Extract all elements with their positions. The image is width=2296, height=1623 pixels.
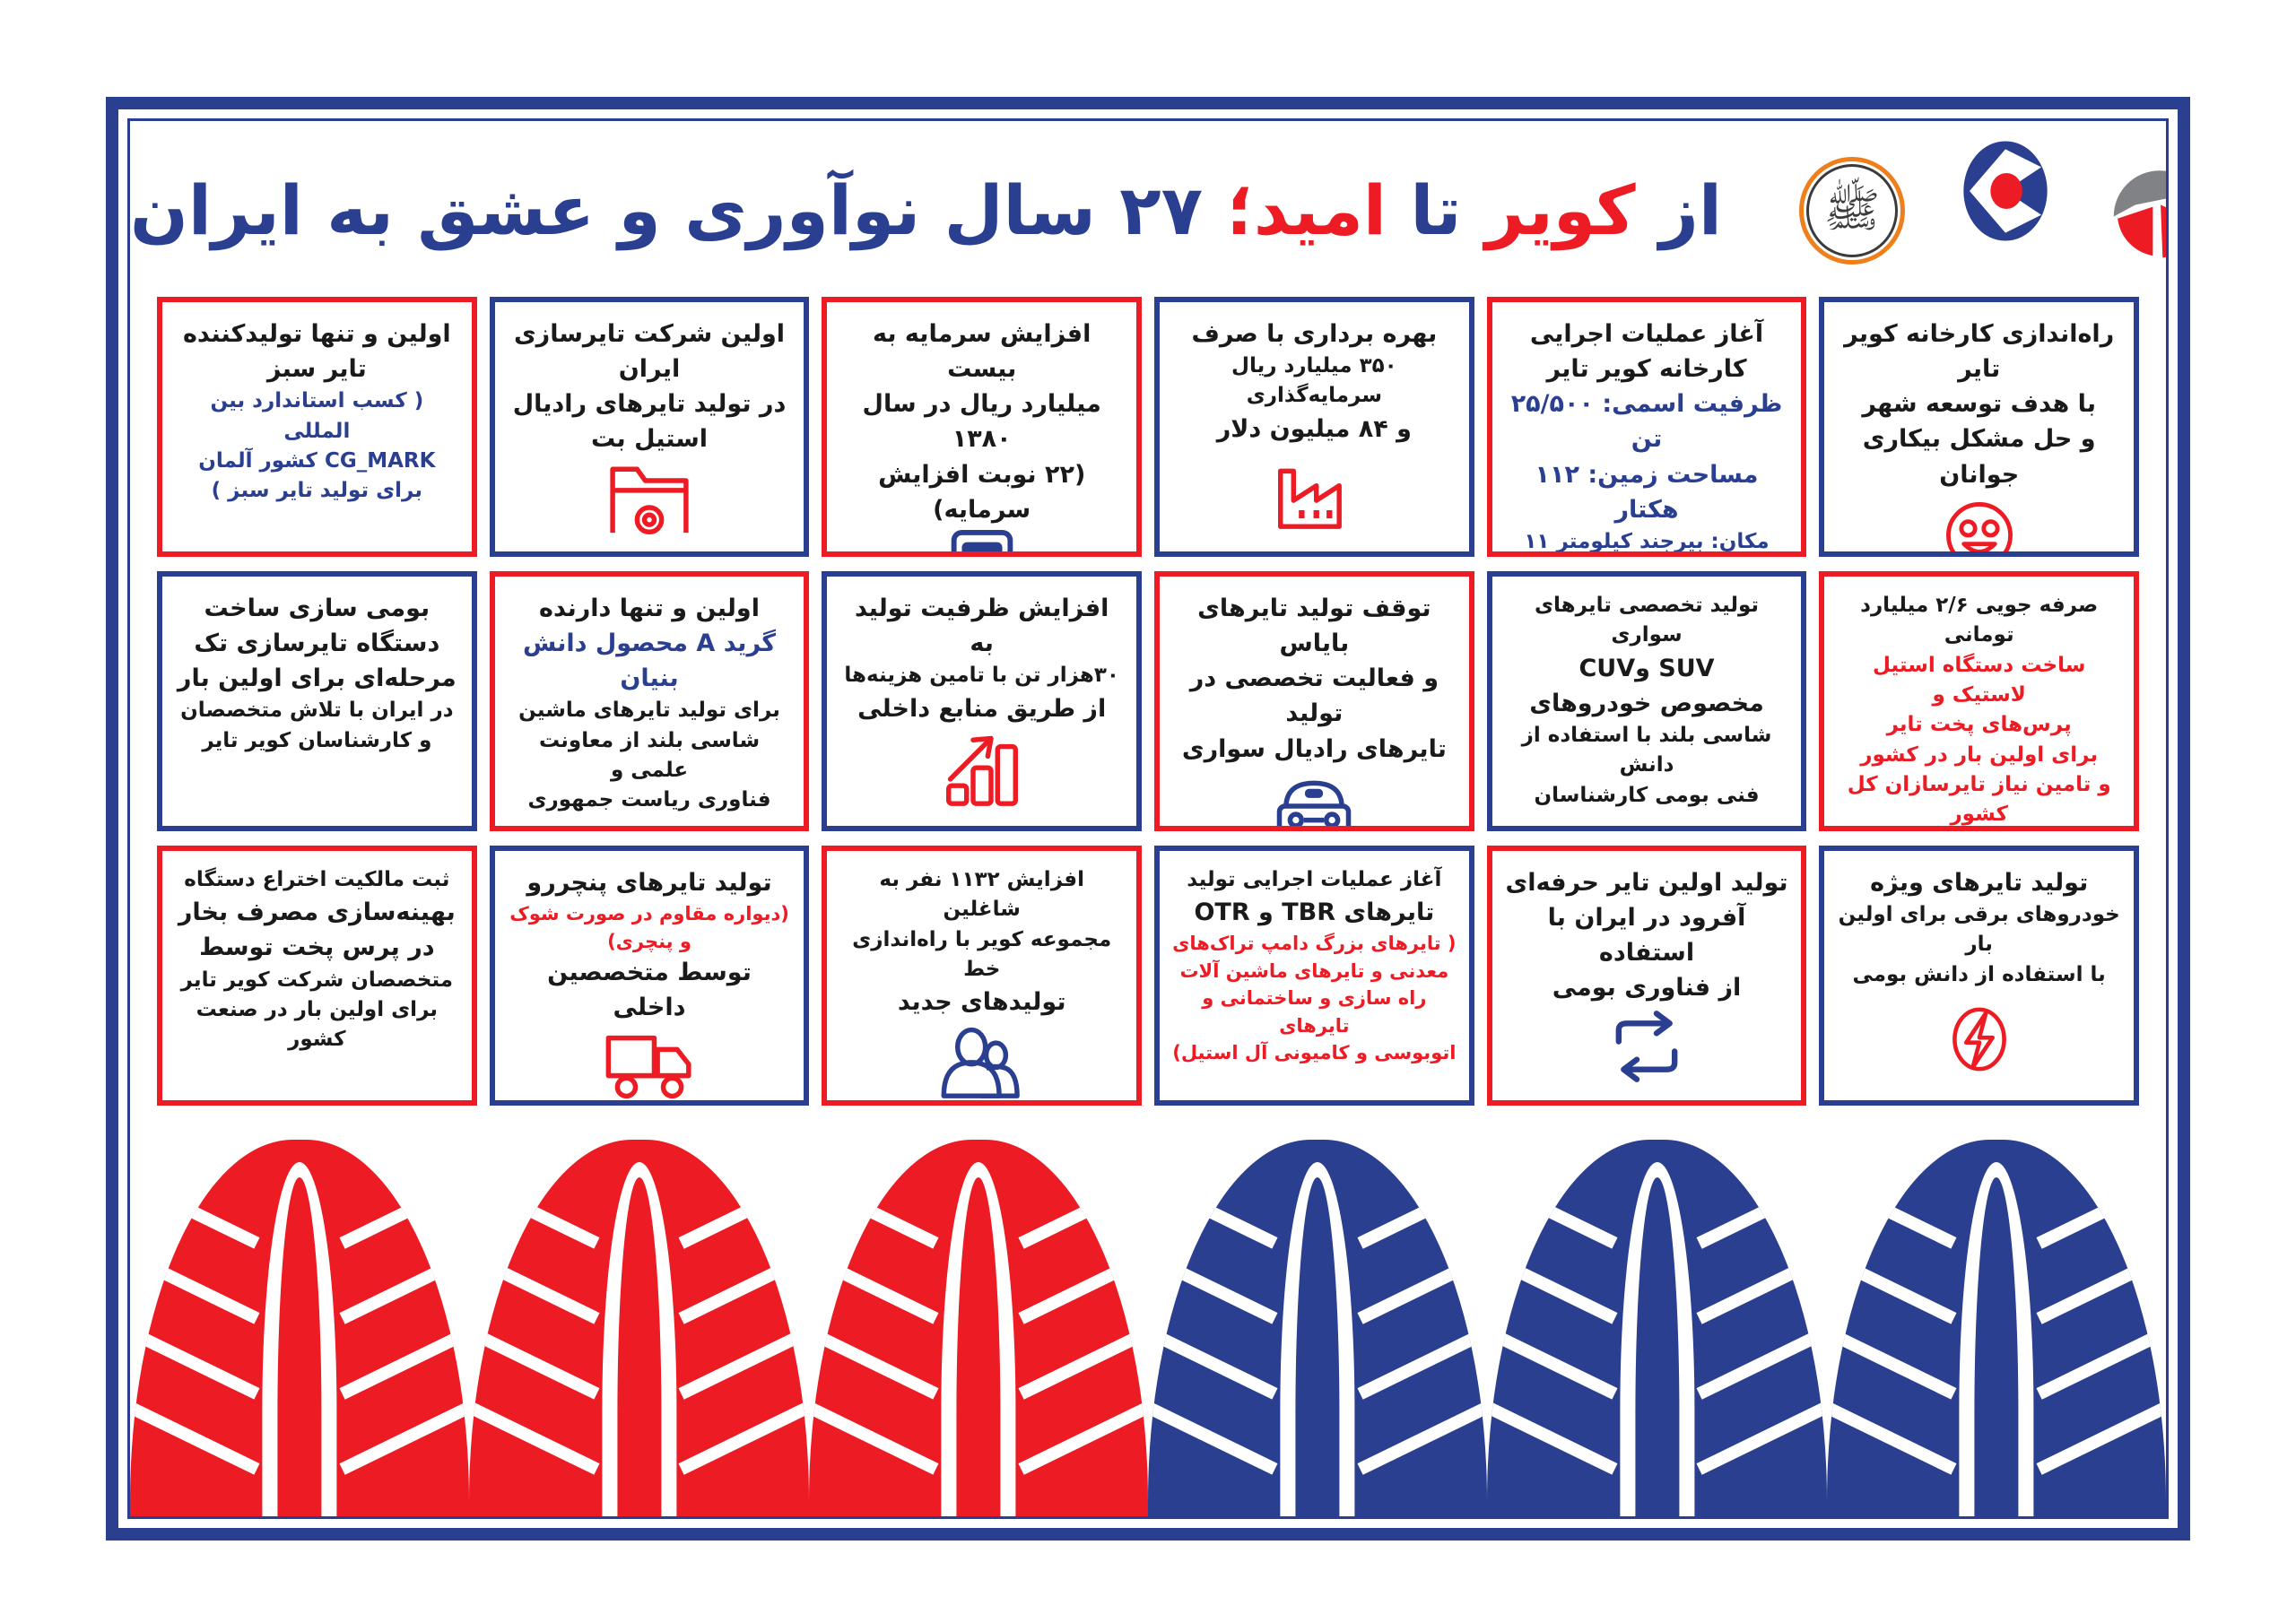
card-line: مخصوص خودروهای <box>1505 686 1789 721</box>
omid-logo-wordmark <box>1999 248 2011 284</box>
card-line-standard: ( کسب استاندارد بین المللی <box>175 386 459 447</box>
card-line-grade-a: گرید A محصول دانش بنیان <box>508 626 792 696</box>
card-factory-launch[interactable]: راه‌اندازی کارخانه کویر تایر با هدف توسع… <box>1819 297 2139 557</box>
folder-gear-icon <box>604 457 694 540</box>
card-line: شاسی بلند با استفاده از دانش <box>1505 721 1789 781</box>
card-line: فناوری ریاست جمهوری <box>508 785 792 815</box>
card-line: راه‌اندازی کارخانه کویر تایر <box>1837 317 2121 386</box>
two-people-icon <box>937 1020 1027 1103</box>
card-line: از فناوری بومی <box>1505 970 1789 1005</box>
card-bias-tire-production-stop[interactable]: توقف تولید تایرهای بایاس و فعالیت تخصصی … <box>1154 571 1474 831</box>
card-line: تولید تایرهای پنچررو <box>508 865 792 900</box>
card-line: معدنی و تایرهای ماشین آلات <box>1172 958 1457 985</box>
card-capacity-increase-30k-tons[interactable]: افزایش ظرفیت تولید به ۳۰هزار تن با تامین… <box>822 571 1142 831</box>
title-segment-3: ۲۷ سال نوآوری و عشق به ایران <box>130 170 1227 250</box>
tire-tread-blue-1 <box>1827 1140 2166 1516</box>
card-line: افزایش سرمایه به بیست <box>839 317 1124 386</box>
card-first-professional-offroad-tire[interactable]: تولید اولین تایر حرفه‌ای آفرود در ایران … <box>1487 846 1807 1106</box>
card-line: آغاز عملیات اجرایی <box>1505 317 1789 352</box>
card-line: (۲۲ نوبت افزایش سرمایه) <box>839 457 1124 527</box>
card-localization-single-stage-machine[interactable]: بومی سازی ساخت دستگاه تایرسازی تک مرحله‌… <box>157 571 477 831</box>
lightning-bolt-icon <box>1938 991 2021 1088</box>
card-line: تایرهای رادیال سواری <box>1172 732 1457 767</box>
tire-tread-red-3 <box>130 1140 469 1516</box>
card-line: توسط متخصصین داخلی <box>508 955 792 1025</box>
title-highlight-omid: امید؛ <box>1227 170 1387 250</box>
card-line: دستگاه تایرسازی تک <box>175 626 459 661</box>
tire-tread-blue-2 <box>1487 1140 1826 1516</box>
growth-bar-chart-icon <box>937 726 1027 813</box>
logo-strip: ﷺ <box>1754 137 2169 284</box>
page-title: از کویر تا امید؛ ۲۷ سال نوآوری و عشق به … <box>130 173 1754 248</box>
card-line: متخصصان شرکت کویر تایر <box>175 966 459 995</box>
card-investment-exploitation[interactable]: بهره برداری با صرف ۳۵۰ میلیارد ریال سرما… <box>1154 297 1474 557</box>
smiley-face-icon <box>1936 492 2022 557</box>
truck-icon <box>601 1025 698 1100</box>
card-line: مجموعه کویر با راه‌اندازی خط <box>839 925 1124 985</box>
card-suv-cuv-specialized-production[interactable]: تولید تخصصی تایرهای سواری SUV وCUV مخصوص… <box>1487 571 1807 831</box>
card-line-runflat-note: (دیواره مقاوم در صورت شوک و پنچری) <box>508 900 792 955</box>
card-line: مرحله‌ای برای اولین بار <box>175 661 459 696</box>
card-line: تایر سبز <box>175 352 459 386</box>
omid-investment-group-logo-icon <box>1955 137 2056 245</box>
card-line: تولیدهای جدید <box>839 985 1124 1020</box>
card-line: و تامین نیاز تایرسازان کل کشور <box>1837 770 2121 830</box>
card-line-purpose: برای تولید تایر سبز ) <box>175 476 459 506</box>
car-front-icon <box>1267 767 1361 831</box>
card-line: اولین و تنها تولیدکننده <box>175 317 459 352</box>
card-first-radial-steel-belt[interactable]: اولین شرکت تایرسازی ایران در تولید تایره… <box>490 297 810 557</box>
kavir-tire-logo-icon <box>2106 158 2169 264</box>
title-highlight-kavir: کویر <box>1485 170 1636 250</box>
card-employment-increase-1132[interactable]: افزایش ۱۱۳۲ نفر به شاغلین مجموعه کویر با… <box>822 846 1142 1106</box>
card-line: اتوبوسی و کامیونی آل استیل) <box>1172 1039 1457 1066</box>
card-line-land-area: مساحت زمین: ۱۱۲ هکتار <box>1505 457 1789 527</box>
card-line: اولین و تنها دارنده <box>508 591 792 626</box>
card-executive-operations-start[interactable]: آغاز عملیات اجرایی کارخانه کویر تایر ظرف… <box>1487 297 1807 557</box>
logo-omid-investment <box>1955 137 2056 284</box>
card-line: افزایش ظرفیت تولید به <box>839 591 1124 661</box>
card-line: آفرود در ایران با استفاده <box>1505 900 1789 970</box>
card-line: اولین شرکت تایرسازی ایران <box>508 317 792 386</box>
card-line: در ایران با تلاش متخصصان <box>175 696 459 725</box>
bank-melli-iran-logo-icon: ﷺ <box>1799 157 1905 265</box>
card-line: تولید تایرهای ویژه <box>1837 865 2121 900</box>
card-line: بومی سازی ساخت <box>175 591 459 626</box>
card-grade-a-knowledge-based[interactable]: اولین و تنها دارنده گرید A محصول دانش بن… <box>490 571 810 831</box>
card-line: ساخت دستگاه استیل لاستیک و <box>1837 651 2121 711</box>
card-line: تولید اولین تایر حرفه‌ای <box>1505 865 1789 900</box>
card-line: خودروهای برقی برای اولین بار <box>1837 900 2121 960</box>
card-line: توقف تولید تایرهای بایاس <box>1172 591 1457 661</box>
tire-tread-red-1 <box>809 1140 1148 1516</box>
card-line: ( تایرهای بزرگ دامپ تراک‌های <box>1172 930 1457 957</box>
calculator-icon: + − × ÷ <box>946 527 1018 557</box>
card-line: برای اولین بار در کشور <box>1837 741 2121 770</box>
card-line: با هدف توسعه شهر <box>1837 386 2121 421</box>
card-line: کارخانه کویر تایر <box>1505 352 1789 386</box>
card-line: پرس‌های پخت تایر <box>1837 710 2121 740</box>
poster-frame: از کویر تا امید؛ ۲۷ سال نوآوری و عشق به … <box>106 97 2190 1541</box>
card-line: ۳۰هزار تن با تامین هزینه‌ها <box>839 661 1124 690</box>
tire-tread-red-2 <box>469 1140 808 1516</box>
card-line: برای اولین بار در صنعت کشور <box>175 995 459 1055</box>
card-line: ثبت مالکیت اختراع دستگاه <box>175 865 459 895</box>
card-line: بهینه‌سازی مصرف بخار <box>175 895 459 930</box>
card-special-ev-tires[interactable]: تولید تایرهای ویژه خودروهای برقی برای او… <box>1819 846 2139 1106</box>
card-line: راه سازی و ساختمانی و تایرهای <box>1172 985 1457 1039</box>
refresh-cycle-icon <box>1604 1006 1690 1088</box>
logo-kavir-tire <box>2106 158 2169 264</box>
card-line-location: مکان: بیرجند کیلومتر ۱۱ کرمان <box>1505 527 1789 557</box>
card-steam-optimization-patent[interactable]: ثبت مالکیت اختراع دستگاه بهینه‌سازی مصرف… <box>157 846 477 1106</box>
poster-inner-border: از کویر تا امید؛ ۲۷ سال نوآوری و عشق به … <box>127 118 2169 1519</box>
card-line: در تولید تایرهای رادیال <box>508 386 792 421</box>
card-savings-2-6-billion-toman[interactable]: صرفه جویی ۲/۶ میلیارد تومانی ساخت دستگاه… <box>1819 571 2139 831</box>
tire-tread-blue-3 <box>1148 1140 1487 1516</box>
card-line: ۳۵۰ میلیارد ریال سرمایه‌گذاری <box>1172 352 1457 412</box>
card-line: افزایش ۱۱۳۲ نفر به شاغلین <box>839 865 1124 925</box>
card-line-tbr-otr: تایرهای TBR و OTR <box>1172 895 1457 930</box>
card-line: در پرس پخت توسط <box>175 930 459 965</box>
card-tbr-otr-production-start[interactable]: آغاز عملیات اجرایی تولید تایرهای TBR و O… <box>1154 846 1474 1106</box>
card-line: فنی بومی کارشناسان <box>1505 781 1789 811</box>
card-line: و کارشناسان کویر تایر <box>175 726 459 756</box>
card-line: و حل مشکل بیکاری جوانان <box>1837 421 2121 491</box>
title-segment-1: از <box>1636 170 1722 250</box>
card-line-capacity: ظرفیت اسمی: ۲۵/۵۰۰ تن <box>1505 386 1789 456</box>
card-first-green-tire-producer[interactable]: اولین و تنها تولیدکننده تایر سبز ( کسب ا… <box>157 297 477 557</box>
poster-header: از کویر تا امید؛ ۲۷ سال نوآوری و عشق به … <box>130 121 2166 300</box>
card-line: تولید تخصصی تایرهای سواری <box>1505 591 1789 651</box>
tire-tread-illustration <box>130 1140 2166 1516</box>
card-line: بهره برداری با صرف <box>1172 317 1457 352</box>
card-line: و فعالیت تخصصی در تولید <box>1172 661 1457 731</box>
title-segment-2: تا <box>1387 170 1485 250</box>
card-line: صرفه جویی ۲/۶ میلیارد تومانی <box>1837 591 2121 651</box>
card-line: شاسی بلند از معاونت علمی و <box>508 726 792 786</box>
card-line: میلیارد ریال در سال ۱۳۸۰ <box>839 386 1124 456</box>
card-line-cg-mark: CG_MARK کشور آلمان <box>175 447 459 476</box>
card-line: برای تولید تایرهای ماشین <box>508 696 792 725</box>
card-line: استیل بت <box>508 421 792 456</box>
card-line: با استفاده از دانش بومی <box>1837 960 2121 990</box>
logo-bank-melli-iran: ﷺ <box>1799 157 1905 265</box>
card-line-suv-cuv: SUV وCUV <box>1505 651 1789 686</box>
milestone-card-grid: راه‌اندازی کارخانه کویر تایر با هدف توسع… <box>157 297 2139 1106</box>
factory-icon <box>1269 447 1359 539</box>
card-line: از طریق منابع داخلی <box>839 691 1124 726</box>
card-line: آغاز عملیات اجرایی تولید <box>1172 865 1457 895</box>
card-line: و ۸۴ میلیون دلار <box>1172 412 1457 447</box>
card-capital-increase-1380[interactable]: افزایش سرمایه به بیست میلیارد ریال در سا… <box>822 297 1142 557</box>
card-run-flat-tire-production[interactable]: تولید تایرهای پنچررو (دیواره مقاوم در صو… <box>490 846 810 1106</box>
